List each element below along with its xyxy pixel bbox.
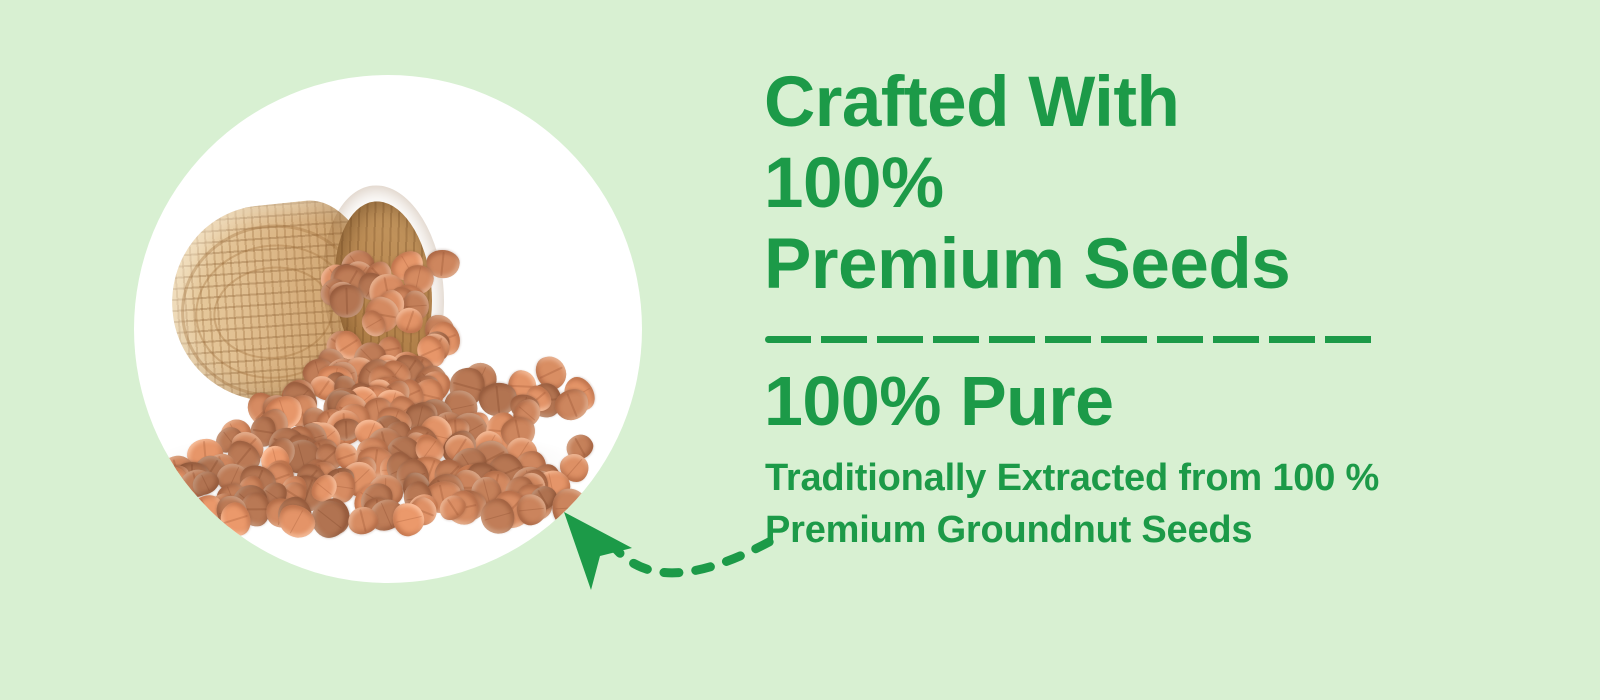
groundnut-basket-photo (134, 75, 642, 583)
groundnut-seed (551, 488, 589, 529)
groundnut-seed (162, 494, 187, 524)
copy-panel: Crafted With 100% Premium Seeds 100% Pur… (764, 0, 1600, 700)
body-copy: Traditionally Extracted from 100 % Premi… (765, 452, 1390, 556)
promo-banner: Crafted With 100% Premium Seeds 100% Pur… (0, 0, 1600, 700)
media-panel (0, 0, 760, 700)
product-medallion (134, 75, 642, 583)
subheadline: 100% Pure (764, 358, 1114, 444)
dashed-divider (765, 336, 1377, 343)
headline: Crafted With 100% Premium Seeds (764, 62, 1404, 305)
